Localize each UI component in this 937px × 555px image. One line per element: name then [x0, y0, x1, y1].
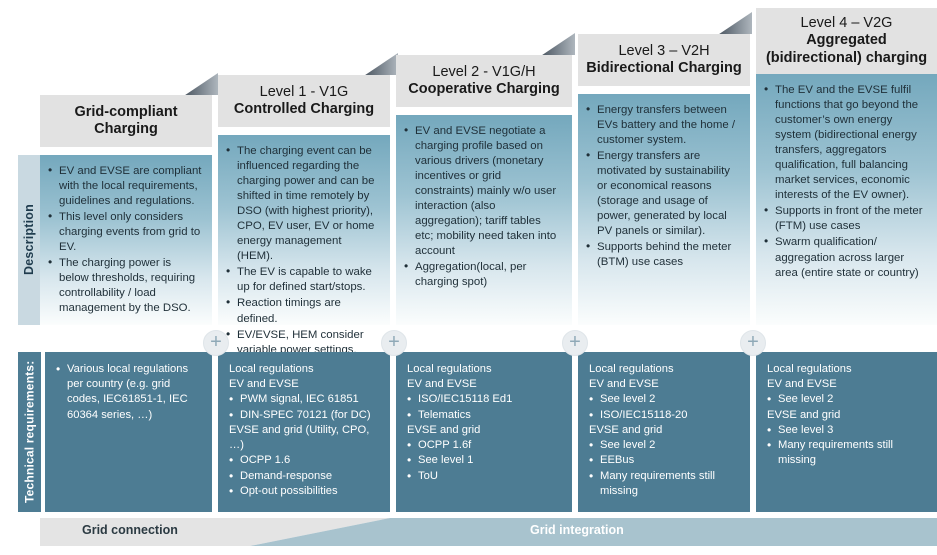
description-list: The EV and the EVSE fulfil functions tha…: [764, 83, 927, 281]
technical-item: ISO/IEC15118-20: [587, 408, 741, 423]
technical-list: Various local regulations per country (e…: [54, 362, 203, 423]
column-title-line2: Cooperative Charging: [408, 81, 559, 98]
technical-list: OCPP 1.6f See level 1 ToU: [405, 438, 563, 484]
technical-box-level-4: Local regulations EV and EVSE See level …: [756, 352, 937, 512]
technical-list: ISO/IEC15118 Ed1 Telematics: [405, 392, 563, 422]
technical-heading: Local regulations: [227, 362, 381, 377]
technical-heading: Local regulations: [765, 362, 928, 377]
description-item: Reaction timings are defined.: [226, 296, 380, 326]
description-item: EV and EVSE are compliant with the local…: [48, 164, 202, 209]
description-item: Energy transfers are motivated by sustai…: [586, 149, 740, 239]
step-riser-2: [358, 53, 398, 75]
description-item: This level only considers charging event…: [48, 210, 202, 255]
description-box-grid-compliant: EV and EVSE are compliant with the local…: [40, 155, 212, 325]
description-box-level-3: Energy transfers between EVs battery and…: [578, 94, 750, 325]
column-title-level-2: Level 2 - V1G/H Cooperative Charging: [396, 55, 572, 107]
technical-item: Various local regulations per country (e…: [54, 362, 203, 423]
technical-item: ToU: [405, 469, 563, 484]
technical-heading: EVSE and grid (Utility, CPO, …): [227, 423, 381, 453]
description-item: Swarm qualification/ aggregation across …: [764, 235, 927, 280]
technical-heading: Local regulations: [587, 362, 741, 377]
description-item: The charging event can be influenced reg…: [226, 144, 380, 264]
technical-item: OCPP 1.6f: [405, 438, 563, 453]
technical-box-level-3: Local regulations EV and EVSE See level …: [578, 352, 750, 512]
technical-item: See level 2: [587, 392, 741, 407]
description-item: Energy transfers between EVs battery and…: [586, 103, 740, 148]
technical-heading: EV and EVSE: [765, 377, 928, 392]
technical-item: OCPP 1.6: [227, 453, 381, 468]
description-item: The EV and the EVSE fulfil functions tha…: [764, 83, 927, 203]
technical-item: ISO/IEC15118 Ed1: [405, 392, 563, 407]
footer-label-grid-integration: Grid integration: [530, 523, 624, 537]
column-title-level-1: Level 1 - V1G Controlled Charging: [218, 75, 390, 127]
technical-item: EEBus: [587, 453, 741, 468]
technical-heading: Local regulations: [405, 362, 563, 377]
diagram-canvas: Description Technical requirements: Grid…: [0, 0, 937, 555]
technical-item: See level 1: [405, 453, 563, 468]
plus-connector-icon: +: [562, 330, 588, 356]
technical-heading: EV and EVSE: [587, 377, 741, 392]
technical-item: See level 2: [587, 438, 741, 453]
row-label-description: Description: [18, 155, 40, 325]
technical-list: PWM signal, IEC 61851 DIN-SPEC 70121 (fo…: [227, 392, 381, 422]
column-title-line2: Bidirectional Charging: [586, 60, 742, 77]
column-title-line1: Level 1 - V1G: [260, 84, 349, 101]
step-riser-4: [712, 12, 752, 34]
row-label-technical-requirements: Technical requirements:: [18, 352, 41, 512]
plus-connector-icon: +: [203, 330, 229, 356]
technical-list: See level 2 ISO/IEC15118-20: [587, 392, 741, 422]
description-list: Energy transfers between EVs battery and…: [586, 103, 740, 271]
description-item: The charging power is below thresholds, …: [48, 256, 202, 316]
technical-item: DIN-SPEC 70121 (for DC): [227, 408, 381, 423]
step-riser-1: [178, 73, 218, 95]
technical-item: See level 3: [765, 423, 928, 438]
technical-heading: EVSE and grid: [405, 423, 563, 438]
column-title-line2: Controlled Charging: [234, 101, 374, 118]
technical-item: PWM signal, IEC 61851: [227, 392, 381, 407]
technical-heading: EV and EVSE: [227, 377, 381, 392]
technical-item: Opt-out possibilities: [227, 484, 381, 499]
technical-item: Demand-response: [227, 469, 381, 484]
column-title-grid-compliant: Grid-compliant Charging: [40, 95, 212, 147]
description-item: Aggregation(local, per charging spot): [404, 260, 562, 290]
footer-band: Grid connection Grid integration: [40, 518, 937, 546]
technical-box-grid-compliant: Various local regulations per country (e…: [45, 352, 212, 512]
technical-box-level-1: Local regulations EV and EVSE PWM signal…: [218, 352, 390, 512]
column-title-level-4: Level 4 – V2G Aggregated (bidirectional)…: [756, 8, 937, 74]
column-title-line2: Aggregated (bidirectional) charging: [764, 32, 929, 66]
description-list: EV and EVSE negotiate a charging profile…: [404, 124, 562, 291]
technical-list: OCPP 1.6 Demand-response Opt-out possibi…: [227, 453, 381, 499]
step-riser-3: [535, 33, 575, 55]
technical-item: See level 2: [765, 392, 928, 407]
column-title-line1: Level 2 - V1G/H: [432, 64, 535, 81]
technical-list: See level 3 Many requirements still miss…: [765, 423, 928, 469]
column-title-line1: Level 4 – V2G: [801, 15, 893, 32]
plus-connector-icon: +: [381, 330, 407, 356]
description-box-level-2: EV and EVSE negotiate a charging profile…: [396, 115, 572, 325]
technical-heading: EV and EVSE: [405, 377, 563, 392]
technical-item: Telematics: [405, 408, 563, 423]
technical-box-level-2: Local regulations EV and EVSE ISO/IEC151…: [396, 352, 572, 512]
column-title-line1: Level 3 – V2H: [618, 43, 709, 60]
technical-list: See level 2: [765, 392, 928, 407]
plus-connector-icon: +: [740, 330, 766, 356]
description-item: Supports behind the meter (BTM) use case…: [586, 240, 740, 270]
description-item: The EV is capable to wake up for defined…: [226, 265, 380, 295]
technical-item: Many requirements still missing: [587, 469, 741, 499]
technical-heading: EVSE and grid: [587, 423, 741, 438]
description-list: The charging event can be influenced reg…: [226, 144, 380, 358]
footer-label-grid-connection: Grid connection: [82, 523, 178, 537]
description-item: EV and EVSE negotiate a charging profile…: [404, 124, 562, 259]
technical-item: Many requirements still missing: [765, 438, 928, 468]
description-item: Supports in front of the meter (FTM) use…: [764, 204, 927, 234]
description-list: EV and EVSE are compliant with the local…: [48, 164, 202, 316]
technical-list: See level 2 EEBus Many requirements stil…: [587, 438, 741, 499]
technical-heading: EVSE and grid: [765, 408, 928, 423]
description-box-level-4: The EV and the EVSE fulfil functions tha…: [756, 74, 937, 325]
column-title-line2: Grid-compliant Charging: [48, 104, 204, 138]
description-box-level-1: The charging event can be influenced reg…: [218, 135, 390, 325]
column-title-level-3: Level 3 – V2H Bidirectional Charging: [578, 34, 750, 86]
